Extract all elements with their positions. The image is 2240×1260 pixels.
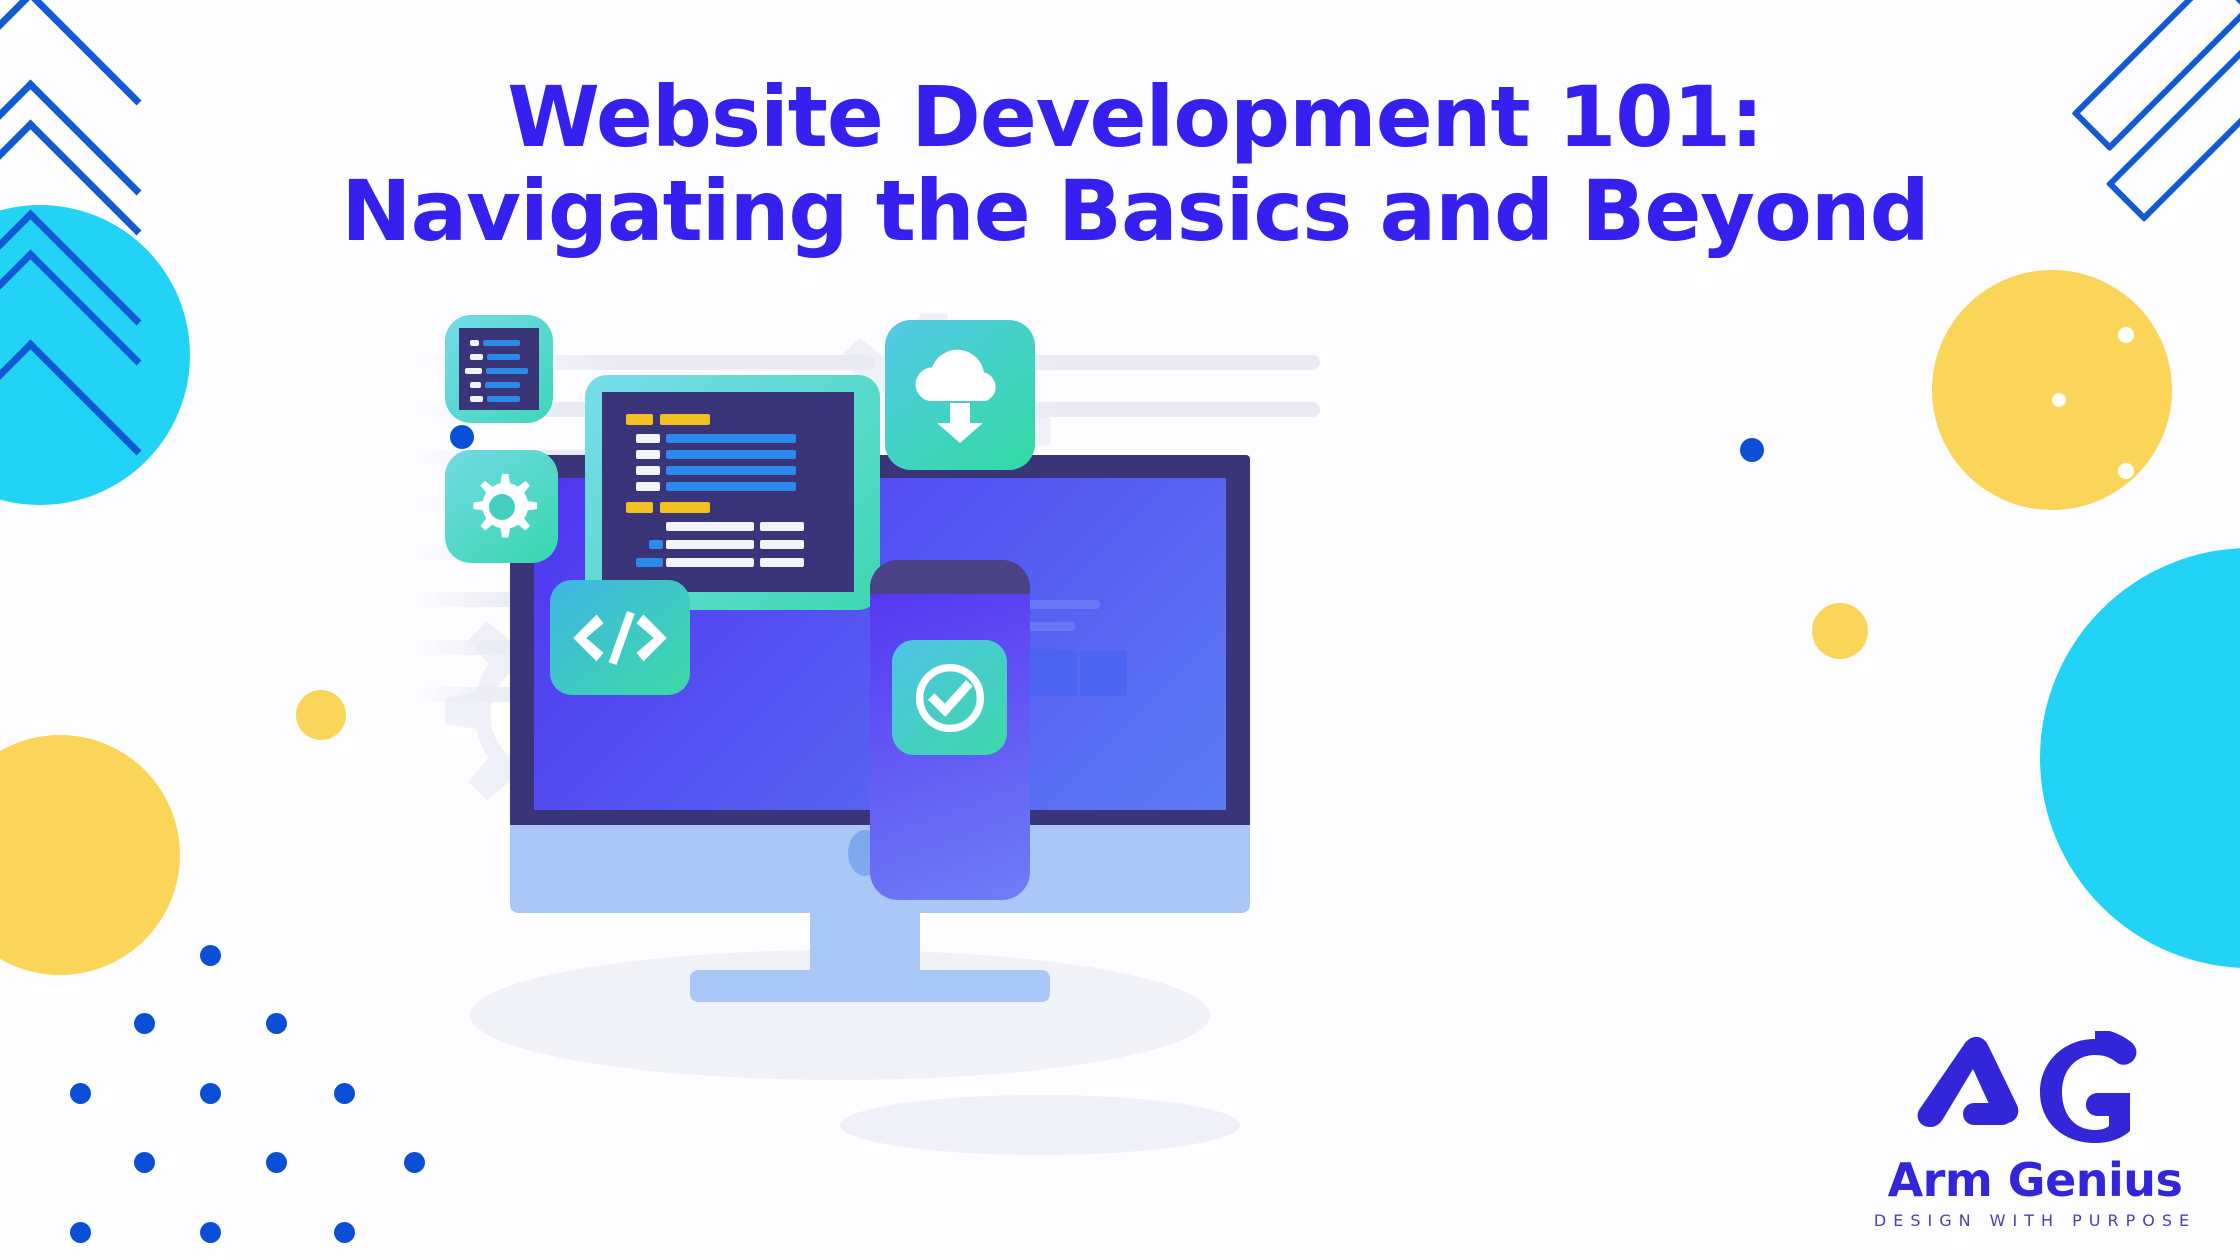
decorative-dot-yellow-right [1812, 603, 1868, 659]
decorative-dot-blue-left [450, 425, 474, 449]
code-line-label [470, 340, 479, 346]
code-token-text [760, 540, 804, 549]
code-line-label [465, 368, 482, 374]
code-token-text [760, 522, 804, 531]
decorative-grid-dot [200, 945, 221, 966]
page-title-line-2: Navigating the Basics and Beyond [0, 164, 2240, 258]
decorative-grid-dot [134, 1152, 155, 1173]
decorative-grid-dot [334, 1222, 355, 1243]
code-token-value [636, 558, 663, 567]
code-token-keyword [660, 502, 710, 513]
code-token-tag [636, 482, 660, 491]
decorative-circle-yellow-top-right [1932, 270, 2172, 510]
decorative-dot-yellow-left [296, 690, 346, 740]
code-token-text [666, 540, 754, 549]
code-line-body [486, 368, 528, 374]
code-token-value [666, 450, 796, 459]
monitor-neck [810, 905, 920, 975]
decorative-grid-dot [134, 1013, 155, 1034]
gear-icon [466, 471, 538, 543]
code-line-label [470, 354, 483, 360]
decorative-white-dot-1 [2118, 327, 2134, 343]
monitor-ui-block [1080, 650, 1127, 696]
code-brackets-icon [568, 605, 672, 671]
code-token-tag [636, 434, 660, 443]
code-token-text [760, 558, 804, 567]
monitor-ui-block [1030, 650, 1077, 696]
code-token-tag [636, 466, 660, 475]
brand-logo: Arm Genius DESIGN WITH PURPOSE [1870, 1031, 2200, 1230]
code-token-value [666, 434, 796, 443]
code-token-keyword [660, 414, 710, 425]
phone-floor-shadow [840, 1095, 1240, 1155]
code-editor-canvas [602, 392, 854, 592]
code-line-body [485, 382, 520, 388]
settings-card [445, 450, 558, 563]
cloud-download-card [885, 320, 1035, 470]
poster-canvas: Website Development 101: Navigating the … [0, 0, 2240, 1260]
decorative-grid-dot [200, 1083, 221, 1104]
code-token-value [649, 540, 663, 549]
code-brackets-card [550, 580, 690, 695]
decorative-grid-dot [404, 1152, 425, 1173]
code-line-body [487, 396, 520, 402]
code-token-text [666, 558, 754, 567]
decorative-grid-dot [200, 1222, 221, 1243]
decorative-grid-dot [70, 1083, 91, 1104]
brand-tagline: DESIGN WITH PURPOSE [1870, 1211, 2200, 1230]
code-token-text [666, 522, 754, 531]
code-token-keyword [626, 502, 653, 513]
code-token-keyword [626, 414, 653, 425]
decorative-grid-dot [334, 1083, 355, 1104]
check-circle-icon [909, 657, 991, 739]
phone-speaker [927, 575, 973, 582]
decorative-grid-dot [266, 1152, 287, 1173]
decorative-circle-cyan-right [2040, 548, 2240, 968]
code-line-body [483, 340, 520, 346]
code-line-label [470, 382, 481, 388]
decorative-grid-dot [70, 1222, 91, 1243]
decorative-white-dot-2 [2052, 393, 2066, 407]
decorative-dot-blue-right [1740, 438, 1764, 462]
monitor-foot [690, 970, 1050, 1002]
code-line-body [487, 354, 520, 360]
decorative-grid-dot [266, 1013, 287, 1034]
web-development-illustration [560, 330, 1560, 1160]
page-title: Website Development 101: Navigating the … [0, 70, 2240, 258]
brand-name: Arm Genius [1870, 1153, 2200, 1207]
page-title-line-1: Website Development 101: [0, 70, 2240, 164]
code-snippet-canvas [459, 328, 539, 410]
code-token-tag [636, 450, 660, 459]
code-token-value [666, 482, 796, 491]
success-check-badge [892, 640, 1007, 755]
code-line-label [470, 396, 483, 402]
decorative-white-dot-3 [2118, 463, 2134, 479]
cloud-download-icon [905, 345, 1015, 445]
ag-monogram-icon [1905, 1031, 2165, 1151]
code-token-value [666, 466, 796, 475]
decorative-circle-yellow-bottom-left [0, 735, 180, 975]
